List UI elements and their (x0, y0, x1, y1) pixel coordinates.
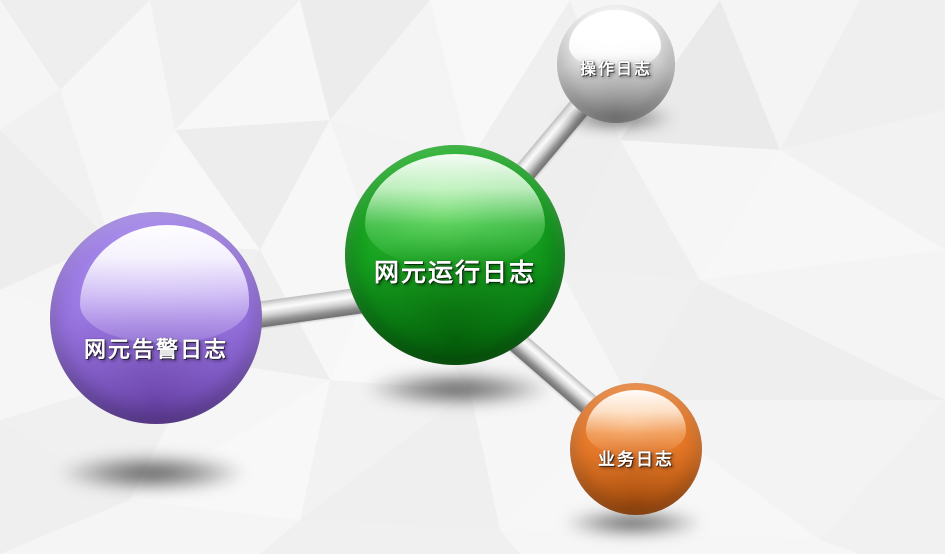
node-net-element-running-log[interactable]: 网元运行日志 (345, 145, 565, 365)
sphere-body-net-element-running-log (345, 145, 565, 365)
diagram-canvas: 操作日志 网元运行日志 网元告警日志 业务日志 (0, 0, 945, 554)
node-net-element-alarm-log[interactable]: 网元告警日志 (50, 212, 262, 424)
sphere-body-net-element-alarm-log (50, 212, 262, 424)
shadow-net-element-alarm-log (62, 455, 242, 491)
node-business-log[interactable]: 业务日志 (570, 383, 702, 515)
sphere-body-operation-log (557, 5, 675, 123)
sphere-body-business-log (570, 383, 702, 515)
shadow-net-element-running-log (368, 372, 548, 406)
node-operation-log[interactable]: 操作日志 (557, 5, 675, 123)
